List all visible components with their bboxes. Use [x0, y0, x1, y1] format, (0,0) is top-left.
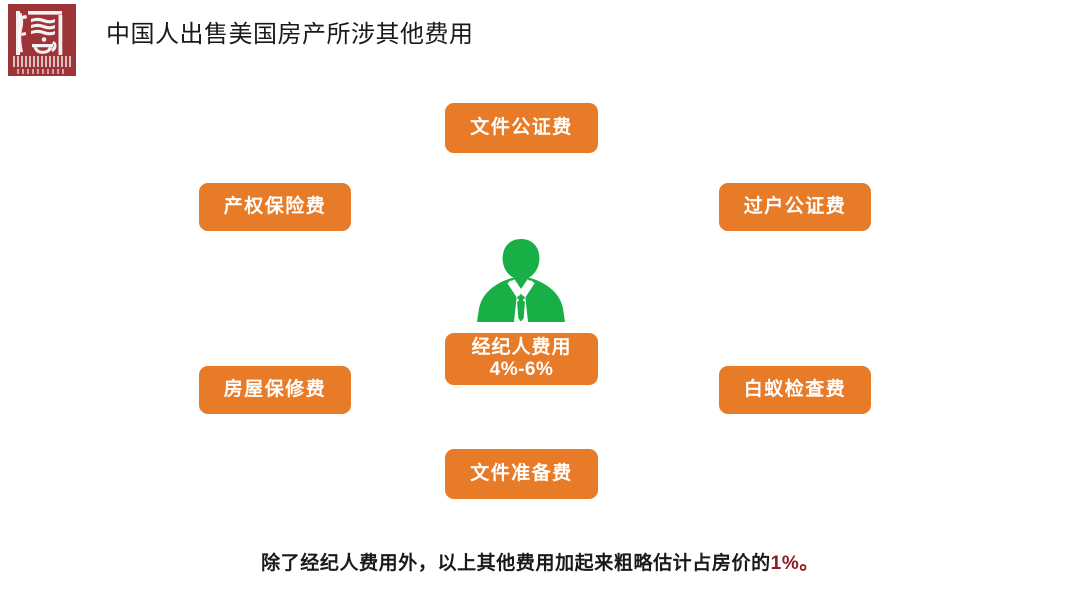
fee-pill-label: 产权保险费	[224, 196, 327, 218]
fee-pill-label: 文件公证费	[470, 117, 573, 139]
fee-pill-title-insurance[interactable]: 产权保险费	[199, 183, 351, 231]
fee-pill-label: 过户公证费	[744, 196, 847, 218]
fee-pill-transfer-notary[interactable]: 过户公证费	[719, 183, 871, 231]
seal-caption-line	[13, 56, 71, 67]
fee-pill-label: 房屋保修费	[224, 379, 327, 401]
seal-calligraphy-icon	[15, 10, 69, 56]
agent-fee-label: 经纪人费用	[471, 337, 571, 359]
fee-pill-label: 白蚁检查费	[744, 379, 847, 401]
fee-pill-termite-inspection[interactable]: 白蚁检查费	[719, 366, 871, 414]
page-title: 中国人出售美国房产所涉其他费用	[106, 14, 474, 49]
footnote: 除了经纪人费用外，以上其他费用加起来粗略估计占房价的1%。	[0, 548, 1080, 575]
agent-fee-pill[interactable]: 经纪人费用 4%-6%	[445, 333, 598, 385]
agent-fee-range: 4%-6%	[490, 359, 554, 381]
fee-pill-label: 文件准备费	[470, 463, 573, 485]
footnote-text: 除了经纪人费用外，以上其他费用加起来粗略估计占房价的	[261, 553, 771, 574]
footnote-accent: 1%。	[771, 553, 819, 574]
slide-canvas: 中国人出售美国房产所涉其他费用 文件公证费 产权保险费 过户公证费 房屋保修费 …	[0, 0, 1080, 608]
businessperson-avatar-icon	[466, 236, 576, 322]
seal-subcaption-line	[17, 69, 67, 74]
fee-pill-home-warranty[interactable]: 房屋保修费	[199, 366, 351, 414]
company-seal-logo	[8, 4, 76, 76]
fee-pill-document-preparation[interactable]: 文件准备费	[445, 449, 598, 499]
fee-pill-notary[interactable]: 文件公证费	[445, 103, 598, 153]
